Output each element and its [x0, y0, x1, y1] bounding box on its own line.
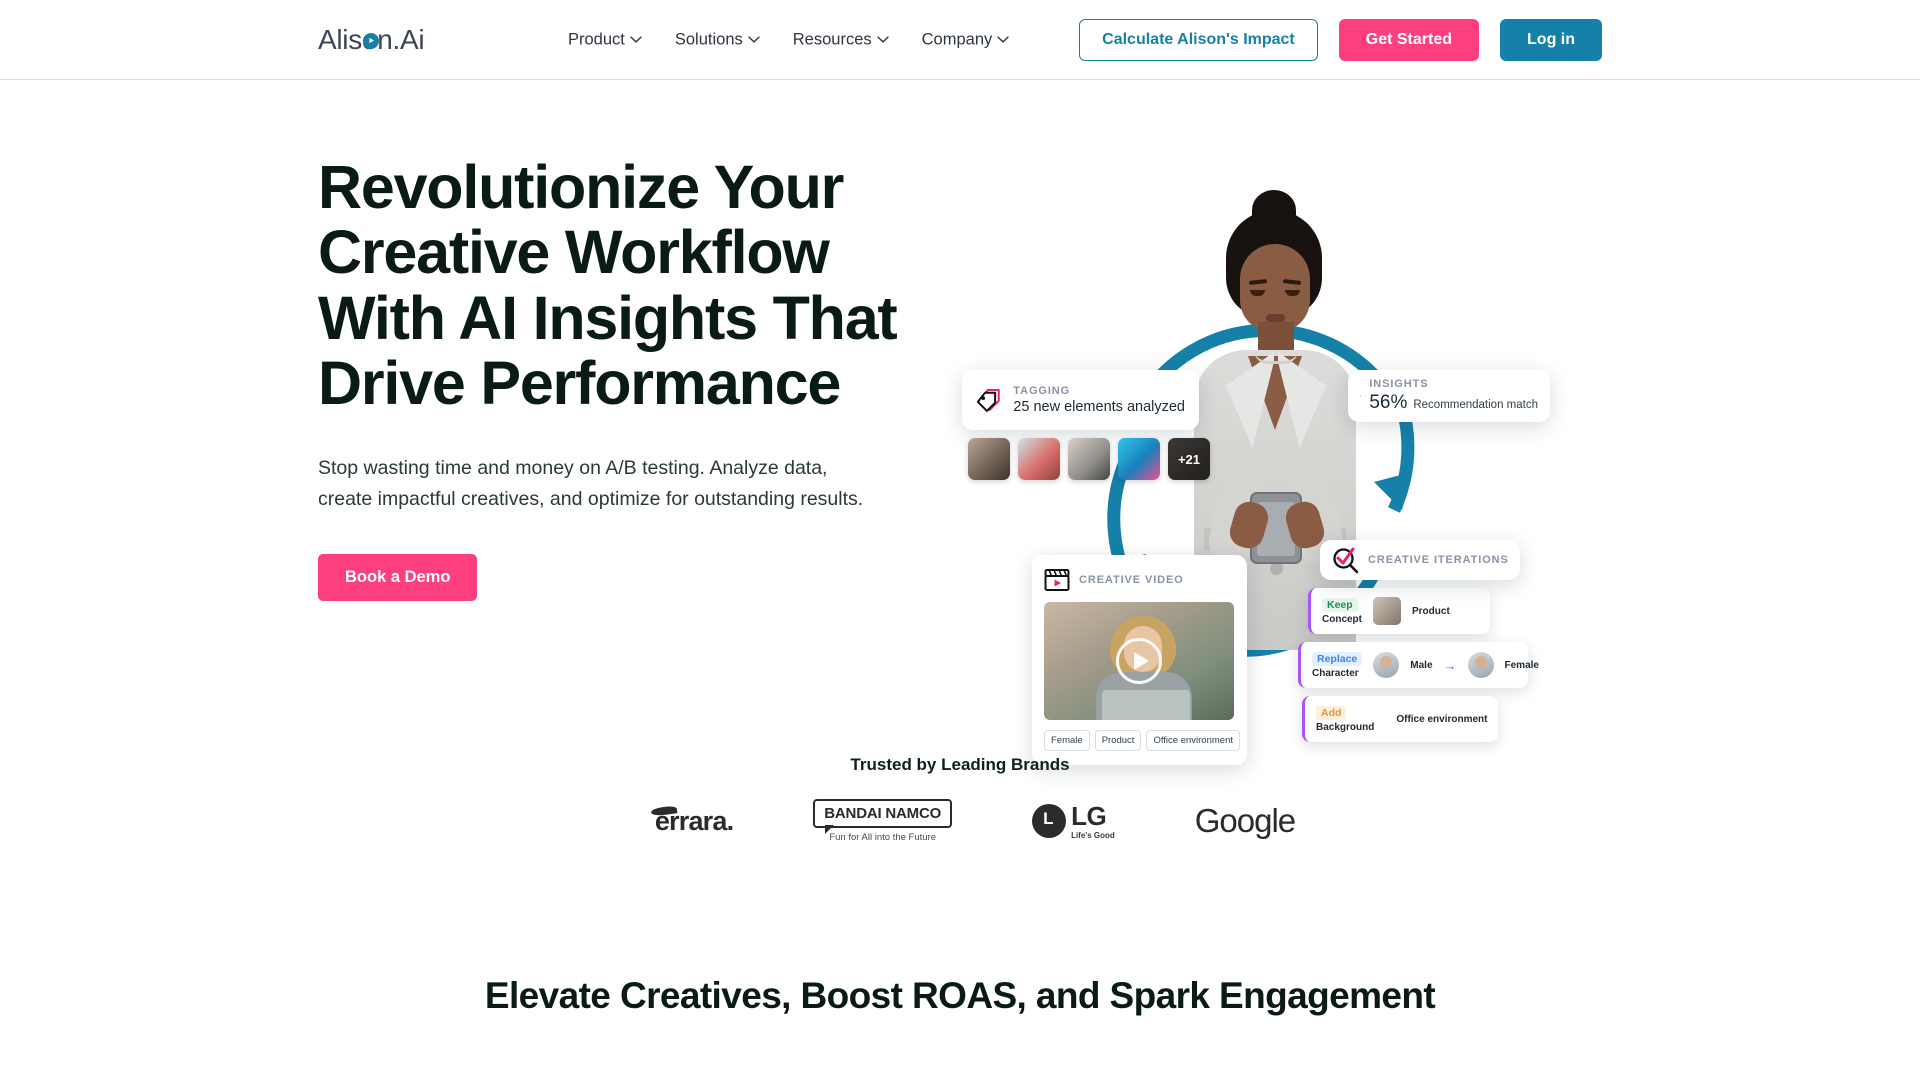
iteration-thumbnail [1373, 597, 1401, 625]
brand-logo-lg: LG Life's Good [1032, 803, 1115, 840]
iteration-badge: Keep [1322, 598, 1358, 612]
trusted-brands-section: Trusted by Leading Brands errara. BANDAI… [0, 755, 1920, 843]
thumbnail [1018, 438, 1060, 480]
iteration-badge: Replace [1312, 652, 1362, 666]
iteration-subject: Background [1316, 722, 1374, 733]
site-header: Alison.Ai Product Solutions Resources Co… [0, 0, 1920, 80]
insights-card: INSIGHTS 56% Recommendation match [1348, 370, 1550, 422]
insights-percent: 56% [1369, 392, 1407, 414]
section-heading: Elevate Creatives, Boost ROAS, and Spark… [0, 975, 1920, 1017]
brand-logo-ferrara: errara. [655, 806, 733, 837]
tag-icon [976, 385, 1003, 415]
book-a-demo-button[interactable]: Book a Demo [318, 554, 477, 601]
insights-text: Recommendation match [1413, 399, 1538, 411]
iteration-subject: Concept [1322, 614, 1362, 625]
avatar [1373, 652, 1399, 678]
nav-item-company[interactable]: Company [922, 30, 1010, 49]
brand-logo-text: Google [1195, 802, 1295, 840]
video-thumbnail[interactable] [1044, 602, 1234, 720]
brand-logo-tagline: Life's Good [1071, 831, 1115, 840]
nav-item-resources[interactable]: Resources [793, 30, 889, 49]
chevron-down-icon [997, 36, 1009, 44]
brand-logo-tagline: Fun for All into the Future [829, 832, 936, 843]
thumbnail [968, 438, 1010, 480]
creative-video-label: CREATIVE VIDEO [1079, 574, 1184, 586]
video-tag: Office environment [1146, 730, 1240, 751]
brand-logo-text: LG [1071, 803, 1115, 829]
target-check-icon [1331, 546, 1359, 574]
chevron-down-icon [748, 36, 760, 44]
iteration-value: Office environment [1396, 714, 1487, 725]
tagging-thumbnail-strip: +21 [968, 438, 1210, 480]
iteration-badge: Add [1316, 706, 1346, 720]
avatar [1468, 652, 1494, 678]
iteration-row-keep: Keep Concept Product [1308, 588, 1490, 634]
nav-item-label: Company [922, 30, 993, 49]
clapperboard-icon [1044, 568, 1070, 592]
page-title: Revolutionize Your Creative Workflow Wit… [318, 155, 918, 416]
brands-title: Trusted by Leading Brands [0, 755, 1920, 775]
nav-item-label: Solutions [675, 30, 743, 49]
thumbnail [1118, 438, 1160, 480]
play-circle-icon [363, 33, 379, 49]
play-icon[interactable] [1116, 638, 1162, 684]
brand-logo-row: errara. BANDAI NAMCO Fun for All into th… [0, 799, 1920, 843]
arrow-right-icon: → [1444, 658, 1457, 673]
iteration-row-add: Add Background Office environment [1302, 696, 1498, 742]
nav-item-product[interactable]: Product [568, 30, 642, 49]
hero-section: Revolutionize Your Creative Workflow Wit… [0, 80, 1920, 740]
brand-logo-text: BANDAI NAMCO [813, 799, 952, 828]
hero-copy: Revolutionize Your Creative Workflow Wit… [318, 155, 918, 601]
insights-label: INSIGHTS [1369, 378, 1538, 390]
nav-item-label: Product [568, 30, 625, 49]
nav-item-label: Resources [793, 30, 872, 49]
tagging-label: TAGGING [1013, 385, 1185, 397]
calculate-impact-button[interactable]: Calculate Alison's Impact [1079, 19, 1318, 61]
laptop [1102, 690, 1190, 720]
logo[interactable]: Alison.Ai [318, 24, 424, 56]
chevron-down-icon [877, 36, 889, 44]
chevron-down-icon [630, 36, 642, 44]
hero-subtitle: Stop wasting time and money on A/B testi… [318, 453, 883, 514]
iteration-value: Product [1412, 606, 1450, 617]
iteration-subject: Character [1312, 668, 1362, 679]
lightbulb-check-icon [1360, 381, 1361, 411]
creative-iterations-label: CREATIVE ITERATIONS [1368, 554, 1509, 566]
creative-video-card: CREATIVE VIDEO Female Product Office env… [1032, 555, 1247, 765]
tagging-text: 25 new elements analyzed [1013, 399, 1185, 415]
nav-item-solutions[interactable]: Solutions [675, 30, 760, 49]
iteration-row-replace: Replace Character Male → Female [1298, 642, 1528, 688]
brand-logo-text: errara. [655, 806, 733, 837]
iteration-to-value: Female [1505, 660, 1539, 671]
header-actions: Calculate Alison's Impact Get Started Lo… [1079, 19, 1602, 61]
hero-illustration: TAGGING 25 new elements analyzed +21 INS… [950, 210, 1580, 770]
lg-mark-icon [1032, 804, 1066, 838]
brand-logo-google: Google [1195, 802, 1295, 840]
main-nav: Product Solutions Resources Company [568, 30, 1009, 49]
creative-iterations-card: CREATIVE ITERATIONS [1320, 540, 1520, 580]
get-started-button[interactable]: Get Started [1339, 19, 1479, 61]
thumbnail-overflow-count: +21 [1168, 438, 1210, 480]
tagging-card: TAGGING 25 new elements analyzed [962, 370, 1199, 430]
log-in-button[interactable]: Log in [1500, 19, 1602, 61]
video-tag: Female [1044, 730, 1090, 751]
brand-logo-bandai-namco: BANDAI NAMCO Fun for All into the Future [813, 799, 952, 843]
lips [1266, 314, 1285, 322]
iteration-from-value: Male [1410, 660, 1432, 671]
thumbnail [1068, 438, 1110, 480]
video-tag: Product [1095, 730, 1142, 751]
thumbnail: +21 [1168, 438, 1210, 480]
video-tag-list: Female Product Office environment [1044, 730, 1235, 751]
